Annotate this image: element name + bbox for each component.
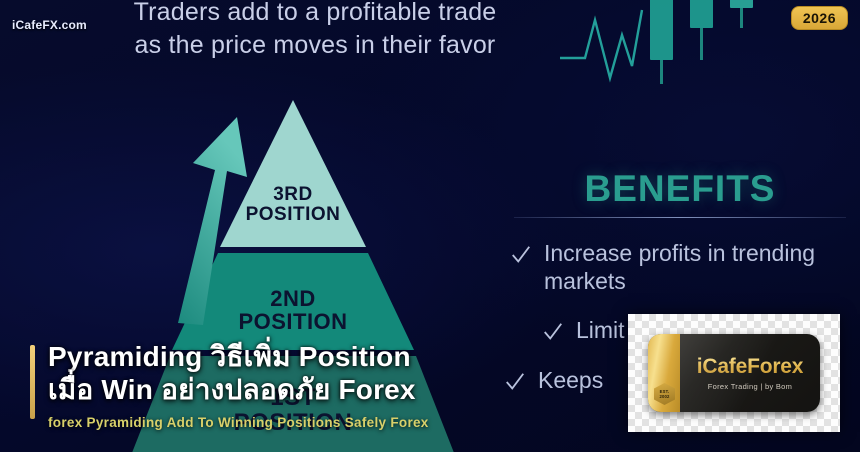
logo-tagline: Forex Trading | by Bom xyxy=(708,382,792,391)
candle-3 xyxy=(730,0,753,28)
check-icon xyxy=(542,321,564,343)
subtitle: forex Pyramiding Add To Winning Position… xyxy=(30,415,530,430)
logo-plate: EST. 2002 iCafeForex Forex Trading | by … xyxy=(648,334,820,412)
watermark-label: iCafeFX.com xyxy=(12,18,87,32)
check-icon xyxy=(510,244,532,266)
arrow-shape xyxy=(178,117,247,325)
established-badge: EST. 2002 xyxy=(654,383,675,405)
upward-arrow-icon xyxy=(175,115,275,325)
title-line-1: Pyramiding วิธีเพิ่ม Position xyxy=(48,341,530,373)
benefit-text: Increase profits in trending markets xyxy=(544,240,850,295)
title-line-2: เมื่อ Win อย่างปลอดภัย Forex xyxy=(48,374,530,406)
candle-1 xyxy=(650,0,673,84)
benefits-divider xyxy=(514,217,846,218)
benefit-text: Limit xyxy=(576,317,625,345)
headline-line-1: Traders add to a profitable trade xyxy=(85,0,545,29)
candlestick-chart-decoration xyxy=(560,0,790,90)
gold-accent-bar xyxy=(30,345,35,419)
benefits-title: BENEFITS xyxy=(510,168,850,210)
headline-line-2: as the price moves in their favor xyxy=(85,29,545,62)
logo-text-group: iCafeForex Forex Trading | by Bom xyxy=(680,334,820,412)
title-lines: Pyramiding วิธีเพิ่ม Position เมื่อ Win … xyxy=(30,341,530,406)
headline: Traders add to a profitable trade as the… xyxy=(85,0,545,62)
est-year: 2002 xyxy=(659,394,669,399)
logo-card-overlay: EST. 2002 iCafeForex Forex Trading | by … xyxy=(628,314,840,432)
title-block: Pyramiding วิธีเพิ่ม Position เมื่อ Win … xyxy=(30,341,530,430)
logo-name: iCafeForex xyxy=(697,355,804,379)
promo-graphic: iCafeFX.com 2026 Traders add to a profit… xyxy=(0,0,860,452)
zigzag-line xyxy=(560,10,642,78)
benefit-text: Keeps xyxy=(538,367,603,395)
candle-2 xyxy=(690,0,713,60)
year-badge: 2026 xyxy=(791,6,848,30)
logo-gold-stripe: EST. 2002 xyxy=(648,334,680,412)
benefit-item: Increase profits in trending markets xyxy=(510,240,850,295)
